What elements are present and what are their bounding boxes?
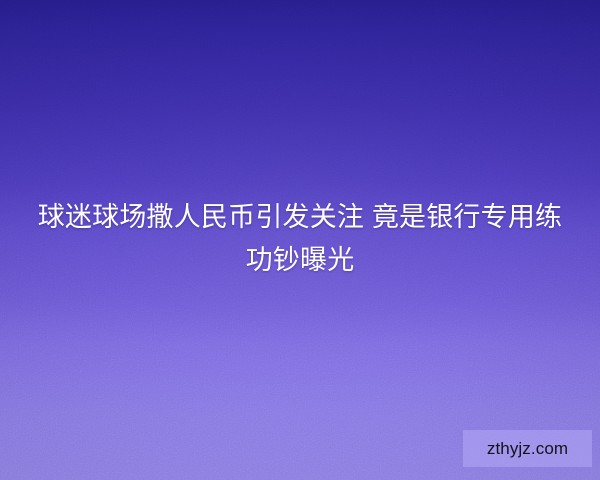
watermark-badge: zthyjz.com [463,430,592,467]
headline-container: 球迷球场撒人民币引发关注 竟是银行专用练功钞曝光 [0,196,600,282]
article-thumbnail-card: 球迷球场撒人民币引发关注 竟是银行专用练功钞曝光 zthyjz.com [0,0,600,480]
page-title: 球迷球场撒人民币引发关注 竟是银行专用练功钞曝光 [34,196,566,282]
watermark-text: zthyjz.com [487,440,568,457]
